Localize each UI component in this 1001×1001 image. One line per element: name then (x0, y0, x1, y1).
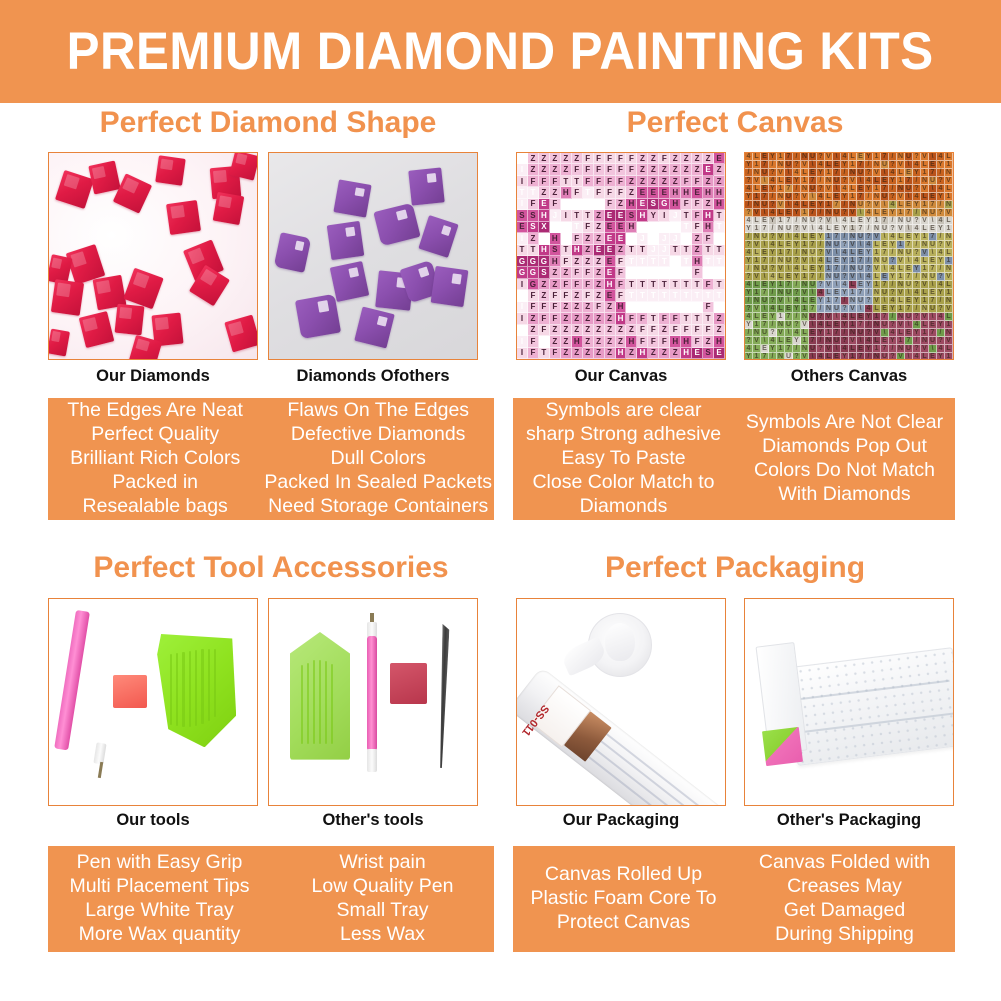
canvas-cell-others: U (929, 273, 937, 281)
canvas-cell-others: E (857, 281, 865, 289)
canvas-cell-others: \ (785, 233, 793, 241)
canvas-cell: F (561, 256, 572, 267)
canvas-cell-others: \ (833, 313, 841, 321)
canvas-cell: Z (572, 290, 583, 301)
canvas-cell-others: N (825, 305, 833, 313)
canvas-cell-others: L (897, 169, 905, 177)
canvas-cell-others: V (777, 297, 785, 305)
canvas-cell-others: E (929, 193, 937, 201)
canvas-cell-others: L (945, 281, 953, 289)
canvas-cell-others: 1 (897, 273, 905, 281)
canvas-cell-others: V (825, 345, 833, 353)
canvas-cell: Z (692, 245, 703, 256)
canvas-cell: Z (670, 176, 681, 187)
canvas-cell-others: 4 (793, 329, 801, 337)
canvas-cell: Z (583, 348, 594, 359)
canvas-cell-others: L (801, 233, 809, 241)
canvas-cell: F (681, 199, 692, 210)
canvas-cell-others: \ (857, 337, 865, 345)
canvas-cell-others: 4 (769, 273, 777, 281)
compare-line: Protect Canvas (557, 911, 690, 935)
panel-others-canvas: 4LEY17/NU?V\4LEY17/NU?V\4LY17/NU?V\4LEY1… (744, 152, 954, 360)
canvas-cell-others: N (753, 265, 761, 273)
canvas-cell-others: Y (769, 249, 777, 257)
bubble-mailer-icon (785, 647, 954, 766)
canvas-cell-others: ? (817, 185, 825, 193)
canvas-cell-others: \ (857, 209, 865, 217)
compare-line: Brilliant Rich Colors (70, 447, 240, 471)
canvas-cell-others: Y (865, 153, 873, 161)
canvas-cell-others: ? (817, 249, 825, 257)
canvas-cell: J (648, 245, 659, 256)
panel-other-packaging (744, 598, 954, 806)
canvas-cell-others: E (905, 329, 913, 337)
canvas-cell-others: V (801, 225, 809, 233)
canvas-cell-others: V (849, 273, 857, 281)
canvas-cell: Z (539, 164, 550, 175)
canvas-cell-others: N (825, 241, 833, 249)
canvas-cell: Z (648, 176, 659, 187)
canvas-cell: T (583, 210, 594, 221)
canvas-cell-others: N (945, 169, 953, 177)
canvas-cell-others: 7 (881, 313, 889, 321)
canvas-cell: F (659, 153, 670, 164)
canvas-cell-others: V (825, 313, 833, 321)
canvas-cell-others: \ (881, 329, 889, 337)
canvas-cell: Z (626, 176, 637, 187)
canvas-cell: Z (561, 313, 572, 324)
canvas-cell: Z (681, 153, 692, 164)
canvas-cell: T (681, 290, 692, 301)
canvas-cell-others: 1 (777, 217, 785, 225)
canvas-cell-others: / (889, 249, 897, 257)
canvas-cell-others: L (921, 257, 929, 265)
compare-block-diamond-shape: The Edges Are Neat Perfect Quality Brill… (48, 398, 494, 520)
canvas-cell-others: 1 (921, 201, 929, 209)
canvas-cell: Z (714, 164, 725, 175)
canvas-cell-others: Y (745, 321, 753, 329)
canvas-cell: H (681, 348, 692, 359)
canvas-cell-others: \ (833, 153, 841, 161)
canvas-cell: T (626, 233, 637, 244)
canvas-cell-others: U (929, 337, 937, 345)
canvas-cell-others: \ (905, 161, 913, 169)
canvas-cell-others: V (873, 169, 881, 177)
canvas-cell-others: U (857, 329, 865, 337)
canvas-cell-others: 1 (825, 201, 833, 209)
compare-line: Less Wax (340, 923, 425, 947)
canvas-cell-others: / (769, 321, 777, 329)
canvas-cell: F (659, 336, 670, 347)
canvas-cell: F (550, 290, 561, 301)
canvas-cell-others: U (785, 193, 793, 201)
canvas-cell-others: E (857, 217, 865, 225)
canvas-cell-others: L (945, 217, 953, 225)
canvas-cell: H (539, 245, 550, 256)
canvas-cell: Z (703, 199, 714, 210)
compare-others-tools: Wrist pain Low Quality Pen Small Tray Le… (271, 846, 494, 952)
canvas-cell-others: L (825, 257, 833, 265)
canvas-cell-others: 7 (785, 153, 793, 161)
canvas-cell-others: 7 (785, 313, 793, 321)
canvas-cell-others: Y (745, 161, 753, 169)
canvas-cell-others: L (825, 225, 833, 233)
canvas-cell-others: 4 (865, 337, 873, 345)
canvas-cell-others: Y (937, 353, 945, 360)
canvas-cell-others: ? (841, 305, 849, 313)
canvas-cell: F (539, 325, 550, 336)
canvas-cell: Z (528, 325, 539, 336)
canvas-cell-others: Y (745, 225, 753, 233)
canvas-cell-others: / (913, 305, 921, 313)
canvas-cell-others: U (905, 249, 913, 257)
canvas-cell: E (659, 187, 670, 198)
canvas-cell-others: N (801, 345, 809, 353)
canvas-cell: T (681, 233, 692, 244)
canvas-cell-others: / (913, 273, 921, 281)
canvas-cell: Z (572, 153, 583, 164)
canvas-cell: Z (583, 302, 594, 313)
canvas-cell-others: 7 (929, 233, 937, 241)
canvas-cell-others: U (809, 313, 817, 321)
canvas-cell-others: / (793, 313, 801, 321)
canvas-cell-others: U (857, 169, 865, 177)
compare-line: Multi Placement Tips (70, 875, 250, 899)
canvas-cell: I (517, 176, 528, 187)
canvas-cell-others: ? (793, 257, 801, 265)
canvas-cell-others: V (849, 209, 857, 217)
canvas-cell: T (648, 256, 659, 267)
canvas-cell: E (616, 210, 627, 221)
canvas-cell: H (616, 313, 627, 324)
canvas-cell-others: E (785, 209, 793, 217)
canvas-cell: T (626, 279, 637, 290)
canvas-cell: F (703, 279, 714, 290)
canvas-cell-others: ? (841, 209, 849, 217)
canvas-cell-others: E (881, 273, 889, 281)
canvas-cell: Z (681, 164, 692, 175)
canvas-cell-others: N (849, 297, 857, 305)
canvas-cell: F (583, 176, 594, 187)
canvas-cell-others: U (809, 345, 817, 353)
canvas-cell-others: \ (857, 177, 865, 185)
canvas-cell-others: 4 (769, 177, 777, 185)
canvas-cell: F (616, 187, 627, 198)
canvas-cell-others: ? (817, 345, 825, 353)
canvas-cell: F (616, 279, 627, 290)
canvas-cell-others: N (921, 241, 929, 249)
canvas-cell: H (714, 336, 725, 347)
canvas-cell-others: N (897, 313, 905, 321)
canvas-cell-others: / (817, 273, 825, 281)
canvas-cell-others: / (865, 321, 873, 329)
pink-symbol-canvas-image: IZZZZZFFFFFZZFZZZZEIZZZZFFFFFFZZZZZZEZIF… (517, 153, 725, 359)
canvas-cell-others: 4 (769, 209, 777, 217)
canvas-cell-others: V (945, 209, 953, 217)
canvas-cell-others: N (801, 281, 809, 289)
canvas-cell-others: V (873, 201, 881, 209)
canvas-cell: E (517, 222, 528, 233)
canvas-cell-others: 7 (809, 273, 817, 281)
canvas-cell-others: L (825, 289, 833, 297)
canvas-cell-others: V (777, 329, 785, 337)
canvas-cell-others: N (801, 153, 809, 161)
canvas-cell-others: Y (913, 233, 921, 241)
canvas-cell-others: 1 (897, 241, 905, 249)
canvas-cell: Z (605, 313, 616, 324)
canvas-cell: F (626, 313, 637, 324)
canvas-cell-others: E (785, 273, 793, 281)
canvas-cell-others: L (753, 345, 761, 353)
canvas-cell-others: / (793, 185, 801, 193)
canvas-cell: H (692, 256, 703, 267)
canvas-cell: F (572, 279, 583, 290)
canvas-cell-others: L (849, 153, 857, 161)
canvas-cell-others: \ (905, 321, 913, 329)
canvas-cell-others: ? (889, 161, 897, 169)
canvas-cell-others: ? (937, 241, 945, 249)
panel-our-canvas: IZZZZZFFFFFZZFZZZZEIZZZZFFFFFFZZZZZZEZIF… (516, 152, 726, 360)
canvas-cell: Z (605, 325, 616, 336)
canvas-cell-others: E (857, 249, 865, 257)
compare-block-canvas: Symbols are clear sharp Strong adhesive … (513, 398, 955, 520)
canvas-cell-others: N (777, 257, 785, 265)
canvas-cell-others: ? (913, 281, 921, 289)
canvas-cell-others: 1 (849, 225, 857, 233)
canvas-cell-others: V (825, 153, 833, 161)
canvas-cell: Z (659, 176, 670, 187)
canvas-cell-others: / (913, 209, 921, 217)
canvas-cell-others: \ (785, 297, 793, 305)
canvas-cell-others: \ (929, 185, 937, 193)
canvas-cell-others: U (929, 209, 937, 217)
canvas-cell: H (572, 336, 583, 347)
canvas-cell-others: \ (809, 257, 817, 265)
canvas-cell: Z (550, 336, 561, 347)
canvas-cell-others: ? (889, 193, 897, 201)
canvas-cell: F (594, 153, 605, 164)
canvas-cell: T (637, 267, 648, 278)
canvas-cell: E (594, 245, 605, 256)
canvas-cell-others: / (937, 265, 945, 273)
canvas-cell: T (572, 176, 583, 187)
canvas-cell-others: N (849, 265, 857, 273)
canvas-cell-others: L (849, 345, 857, 353)
canvas-cell-others: U (809, 281, 817, 289)
canvas-cell-others: / (745, 169, 753, 177)
canvas-cell-others: U (881, 161, 889, 169)
canvas-cell: F (539, 176, 550, 187)
canvas-cell: I (517, 233, 528, 244)
canvas-cell: Z (561, 164, 572, 175)
canvas-cell-others: U (857, 297, 865, 305)
canvas-cell-others: Y (841, 321, 849, 329)
compare-line: Perfect Quality (91, 423, 219, 447)
canvas-cell-others: N (873, 193, 881, 201)
other-tools-image (269, 599, 477, 805)
canvas-cell-others: Y (841, 193, 849, 201)
canvas-cell-others: 7 (881, 345, 889, 353)
canvas-cell-others: / (841, 329, 849, 337)
canvas-cell-others: 4 (937, 313, 945, 321)
canvas-cell: T (648, 302, 659, 313)
canvas-cell-others: 1 (873, 153, 881, 161)
canvas-cell-others: 7 (881, 249, 889, 257)
canvas-cell-others: \ (929, 217, 937, 225)
compare-line: Packed in (112, 471, 198, 495)
canvas-cell-others: N (921, 177, 929, 185)
canvas-cell-others: \ (881, 265, 889, 273)
canvas-cell-others: 7 (809, 305, 817, 313)
canvas-cell: I (561, 222, 572, 233)
canvas-cell: H (681, 336, 692, 347)
canvas-cell-others: N (945, 329, 953, 337)
canvas-cell-others: \ (881, 169, 889, 177)
canvas-cell-others: / (913, 177, 921, 185)
canvas-cell-others: U (905, 345, 913, 353)
canvas-cell-others: L (777, 241, 785, 249)
canvas-cell-others: / (769, 225, 777, 233)
canvas-cell-others: 7 (857, 353, 865, 360)
canvas-cell: H (703, 210, 714, 221)
canvas-cell-others: L (801, 297, 809, 305)
canvas-cell-others: U (761, 329, 769, 337)
canvas-cell-others: 1 (849, 257, 857, 265)
canvas-cell-others: L (921, 289, 929, 297)
canvas-cell-others: E (809, 329, 817, 337)
canvas-cell: F (692, 325, 703, 336)
canvas-cell: F (681, 176, 692, 187)
canvas-cell: Z (594, 222, 605, 233)
canvas-cell: Z (626, 187, 637, 198)
canvas-cell-others: 1 (897, 305, 905, 313)
canvas-cell-others: U (905, 281, 913, 289)
canvas-cell-others: V (921, 153, 929, 161)
pink-pen-icon (367, 636, 377, 751)
canvas-cell: Z (670, 153, 681, 164)
canvas-cell-others: \ (761, 337, 769, 345)
canvas-cell-others: 4 (745, 153, 753, 161)
canvas-cell: T (703, 290, 714, 301)
canvas-cell-others: E (857, 185, 865, 193)
canvas-cell-others: 1 (921, 233, 929, 241)
canvas-cell-others: N (945, 265, 953, 273)
compare-line: Defective Diamonds (291, 423, 466, 447)
canvas-cell: J (659, 245, 670, 256)
canvas-cell-others: E (857, 313, 865, 321)
canvas-cell: H (637, 210, 648, 221)
canvas-cell-others: 7 (833, 201, 841, 209)
canvas-cell-others: E (881, 337, 889, 345)
canvas-cell: E (692, 187, 703, 198)
canvas-cell-others: 4 (817, 161, 825, 169)
canvas-cell-others: V (777, 169, 785, 177)
canvas-cell: E (605, 233, 616, 244)
canvas-cell-others: L (777, 209, 785, 217)
canvas-cell: S (539, 267, 550, 278)
canvas-cell-others: \ (881, 233, 889, 241)
caption-our-canvas: Our Canvas (516, 368, 726, 385)
canvas-cell-others: ? (745, 305, 753, 313)
canvas-cell-others: N (777, 225, 785, 233)
canvas-cell-others: 1 (777, 185, 785, 193)
canvas-cell-others: U (809, 185, 817, 193)
compare-line: Plastic Foam Core To (530, 887, 716, 911)
canvas-cell: F (583, 164, 594, 175)
canvas-cell-others: ? (793, 321, 801, 329)
canvas-cell: Z (539, 153, 550, 164)
canvas-cell-others: Y (889, 241, 897, 249)
canvas-cell: T (714, 210, 725, 221)
canvas-cell-others: V (921, 185, 929, 193)
canvas-cell: F (594, 302, 605, 313)
canvas-cell: H (714, 199, 725, 210)
canvas-cell: Z (583, 256, 594, 267)
canvas-cell-others: 1 (897, 209, 905, 217)
panel-our-diamonds (48, 152, 258, 360)
canvas-cell-others: ? (745, 337, 753, 345)
canvas-cell: F (583, 267, 594, 278)
canvas-cell-others: 4 (841, 345, 849, 353)
canvas-cell: F (637, 325, 648, 336)
canvas-cell-others: U (857, 265, 865, 273)
canvas-cell: F (692, 176, 703, 187)
canvas-cell-others: 1 (945, 321, 953, 329)
canvas-cell-others: V (897, 321, 905, 329)
canvas-cell-others: Y (865, 313, 873, 321)
canvas-cell-others: 7 (833, 233, 841, 241)
canvas-cell: Z (528, 313, 539, 324)
canvas-cell-others: N (753, 329, 761, 337)
canvas-cell-others: E (881, 177, 889, 185)
canvas-cell-others: ? (793, 161, 801, 169)
tweezers-icon (437, 624, 449, 768)
canvas-cell-others: U (785, 161, 793, 169)
canvas-cell-others: / (841, 297, 849, 305)
canvas-cell: Z (616, 325, 627, 336)
canvas-cell-others: 4 (865, 273, 873, 281)
canvas-cell-others: E (809, 265, 817, 273)
canvas-cell-others: N (777, 321, 785, 329)
canvas-cell-others: 7 (881, 217, 889, 225)
canvas-cell-others: Y (841, 289, 849, 297)
canvas-cell: Z (637, 176, 648, 187)
canvas-cell-others: E (905, 297, 913, 305)
canvas-cell: Z (561, 302, 572, 313)
canvas-cell-others: 4 (889, 265, 897, 273)
canvas-cell-others: V (801, 161, 809, 169)
canvas-cell-others: / (889, 153, 897, 161)
canvas-cell: Z (539, 290, 550, 301)
canvas-cell-others: ? (913, 185, 921, 193)
canvas-cell-others: V (873, 233, 881, 241)
canvas-cell-others: N (873, 161, 881, 169)
canvas-cell-others: ? (817, 281, 825, 289)
canvas-cell-others: V (801, 321, 809, 329)
canvas-cell-others: U (857, 233, 865, 241)
canvas-cell-others: Y (937, 321, 945, 329)
canvas-cell-others: N (825, 337, 833, 345)
canvas-cell: T (561, 199, 572, 210)
canvas-cell-others: ? (889, 225, 897, 233)
canvas-cell: T (648, 233, 659, 244)
canvas-cell-others: / (841, 169, 849, 177)
canvas-cell-others: / (841, 201, 849, 209)
canvas-cell-others: \ (809, 321, 817, 329)
canvas-cell-others: Y (769, 217, 777, 225)
canvas-cell-others: Y (865, 185, 873, 193)
canvas-cell: F (539, 302, 550, 313)
